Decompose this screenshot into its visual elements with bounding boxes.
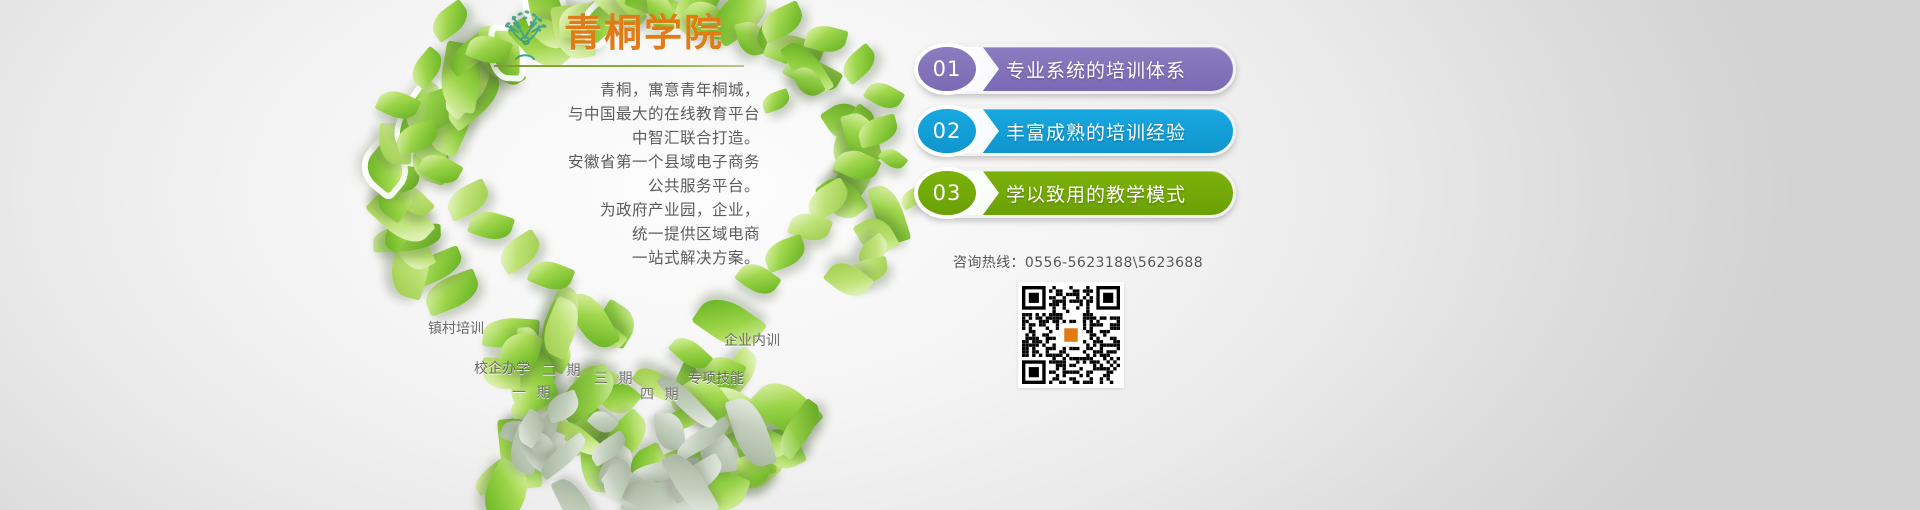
leaf-icon (878, 144, 909, 174)
feature-badge-number: 03 (918, 171, 976, 215)
category-label: 企业内训 (724, 330, 780, 350)
hotline-text: 咨询热线：0556-5623188\5623688 (928, 252, 1228, 272)
leaf-icon (760, 88, 792, 114)
description-line: 与中国最大的在线教育平台 (470, 102, 760, 126)
feature-badge-list: 01专业系统的培训体系02丰富成熟的培训经验03学以致用的教学模式 (916, 44, 1236, 230)
description-line: 为政府产业园，企业， (470, 198, 760, 222)
description-line: 一站式解决方案。 (470, 246, 760, 270)
category-label: 校企办学 (474, 358, 530, 378)
phase-label: 四 期 (640, 384, 681, 404)
feature-badge-number: 01 (918, 47, 976, 91)
brand-description: 青桐，寓意青年桐城，与中国最大的在线教育平台中智汇联合打造。安徽省第一个县域电子… (470, 78, 760, 270)
brand-title: 青桐学院 (564, 14, 724, 52)
feature-badge-03[interactable]: 03学以致用的教学模式 (916, 168, 1236, 218)
description-line: 统一提供区域电商 (470, 222, 760, 246)
leaf-icon (837, 43, 882, 86)
description-line: 公共服务平台。 (470, 174, 760, 198)
feature-badge-01[interactable]: 01专业系统的培训体系 (916, 44, 1236, 94)
feature-badge-label: 学以致用的教学模式 (1006, 180, 1186, 207)
feature-badge-label: 丰富成熟的培训经验 (1006, 118, 1186, 145)
brand-logo: 青桐学院 (494, 4, 756, 67)
brand-divider (494, 65, 744, 67)
category-label: 镇村培训 (428, 318, 484, 338)
description-line: 中智汇联合打造。 (470, 126, 760, 150)
category-label: 专项技能 (688, 368, 744, 388)
description-line: 青桐，寓意青年桐城， (470, 78, 760, 102)
tree-icon (494, 5, 556, 61)
qr-code-icon (1018, 282, 1124, 388)
leaf-icon (761, 234, 810, 274)
phase-label: 一 期 (512, 382, 553, 402)
description-line: 安徽省第一个县域电子商务 (470, 150, 760, 174)
leaf-icon (426, 0, 474, 43)
banner-canvas: 青桐学院 青桐，寓意青年桐城，与中国最大的在线教育平台中智汇联合打造。安徽省第一… (0, 0, 1920, 510)
phase-label: 三 期 (594, 368, 635, 388)
leaf-icon (863, 77, 906, 115)
phase-label: 二 期 (542, 360, 583, 380)
feature-badge-02[interactable]: 02丰富成熟的培训经验 (916, 106, 1236, 156)
feature-badge-label: 专业系统的培训体系 (1006, 56, 1186, 83)
feature-badge-number: 02 (918, 109, 976, 153)
